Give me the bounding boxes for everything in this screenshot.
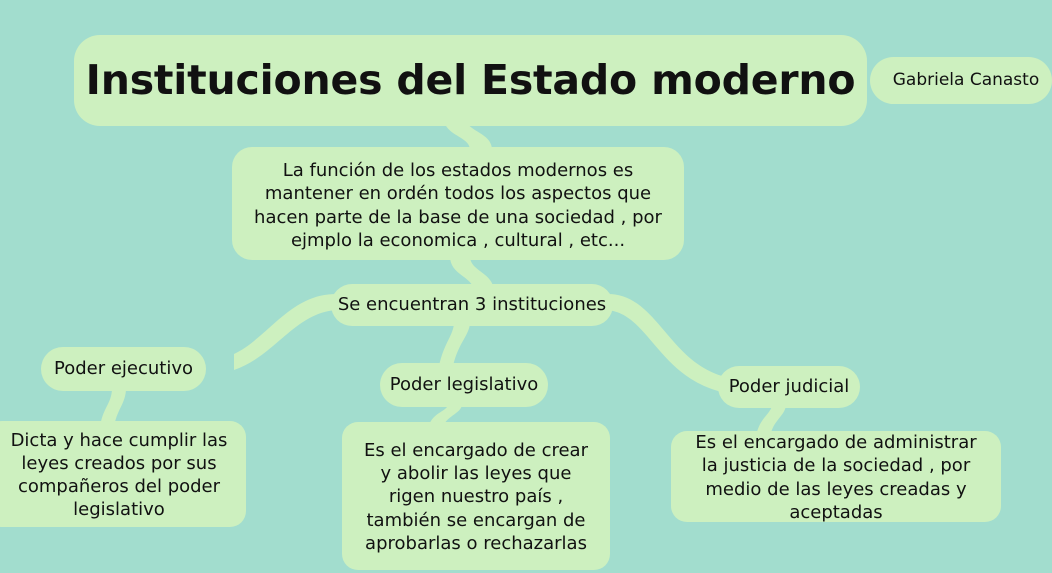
branch-label-poder-judicial: Poder judicial xyxy=(718,375,860,398)
mindmap-title-text: Instituciones del Estado moderno xyxy=(74,54,867,106)
branch-label-poder-ejecutivo: Poder ejecutivo xyxy=(41,357,206,380)
branch-node-poder-judicial[interactable]: Poder judicial xyxy=(718,366,860,408)
branch-node-poder-ejecutivo[interactable]: Poder ejecutivo xyxy=(41,347,206,391)
branch-hub-text: Se encuentran 3 instituciones xyxy=(331,293,613,316)
detail-node-poder-legislativo[interactable]: Es el encargado de crear y abolir las le… xyxy=(342,422,610,570)
author-name-text: Gabriela Canasto xyxy=(880,70,1052,92)
detail-node-poder-ejecutivo[interactable]: Dicta y hace cumplir las leyes creados p… xyxy=(0,421,246,527)
branch-node-poder-legislativo[interactable]: Poder legislativo xyxy=(380,363,548,407)
connector-hub-to-ejecutivo xyxy=(234,294,340,370)
mindmap-canvas: Instituciones del Estado moderno Gabriel… xyxy=(0,0,1052,573)
detail-text-poder-legislativo: Es el encargado de crear y abolir las le… xyxy=(358,439,594,554)
author-badge[interactable]: Gabriela Canasto xyxy=(870,57,1052,104)
branch-hub-node[interactable]: Se encuentran 3 instituciones xyxy=(331,284,613,326)
mindmap-title-node[interactable]: Instituciones del Estado moderno xyxy=(74,35,867,126)
description-text: La función de los estados modernos es ma… xyxy=(250,159,666,251)
description-node[interactable]: La función de los estados modernos es ma… xyxy=(232,147,684,260)
detail-node-poder-judicial[interactable]: Es el encargado de administrar la justic… xyxy=(671,431,1001,522)
detail-text-poder-judicial: Es el encargado de administrar la justic… xyxy=(685,431,987,523)
branch-label-poder-legislativo: Poder legislativo xyxy=(380,373,548,396)
connector-hub-to-judicial xyxy=(604,294,722,392)
detail-text-poder-ejecutivo: Dicta y hace cumplir las leyes creados p… xyxy=(6,429,232,521)
